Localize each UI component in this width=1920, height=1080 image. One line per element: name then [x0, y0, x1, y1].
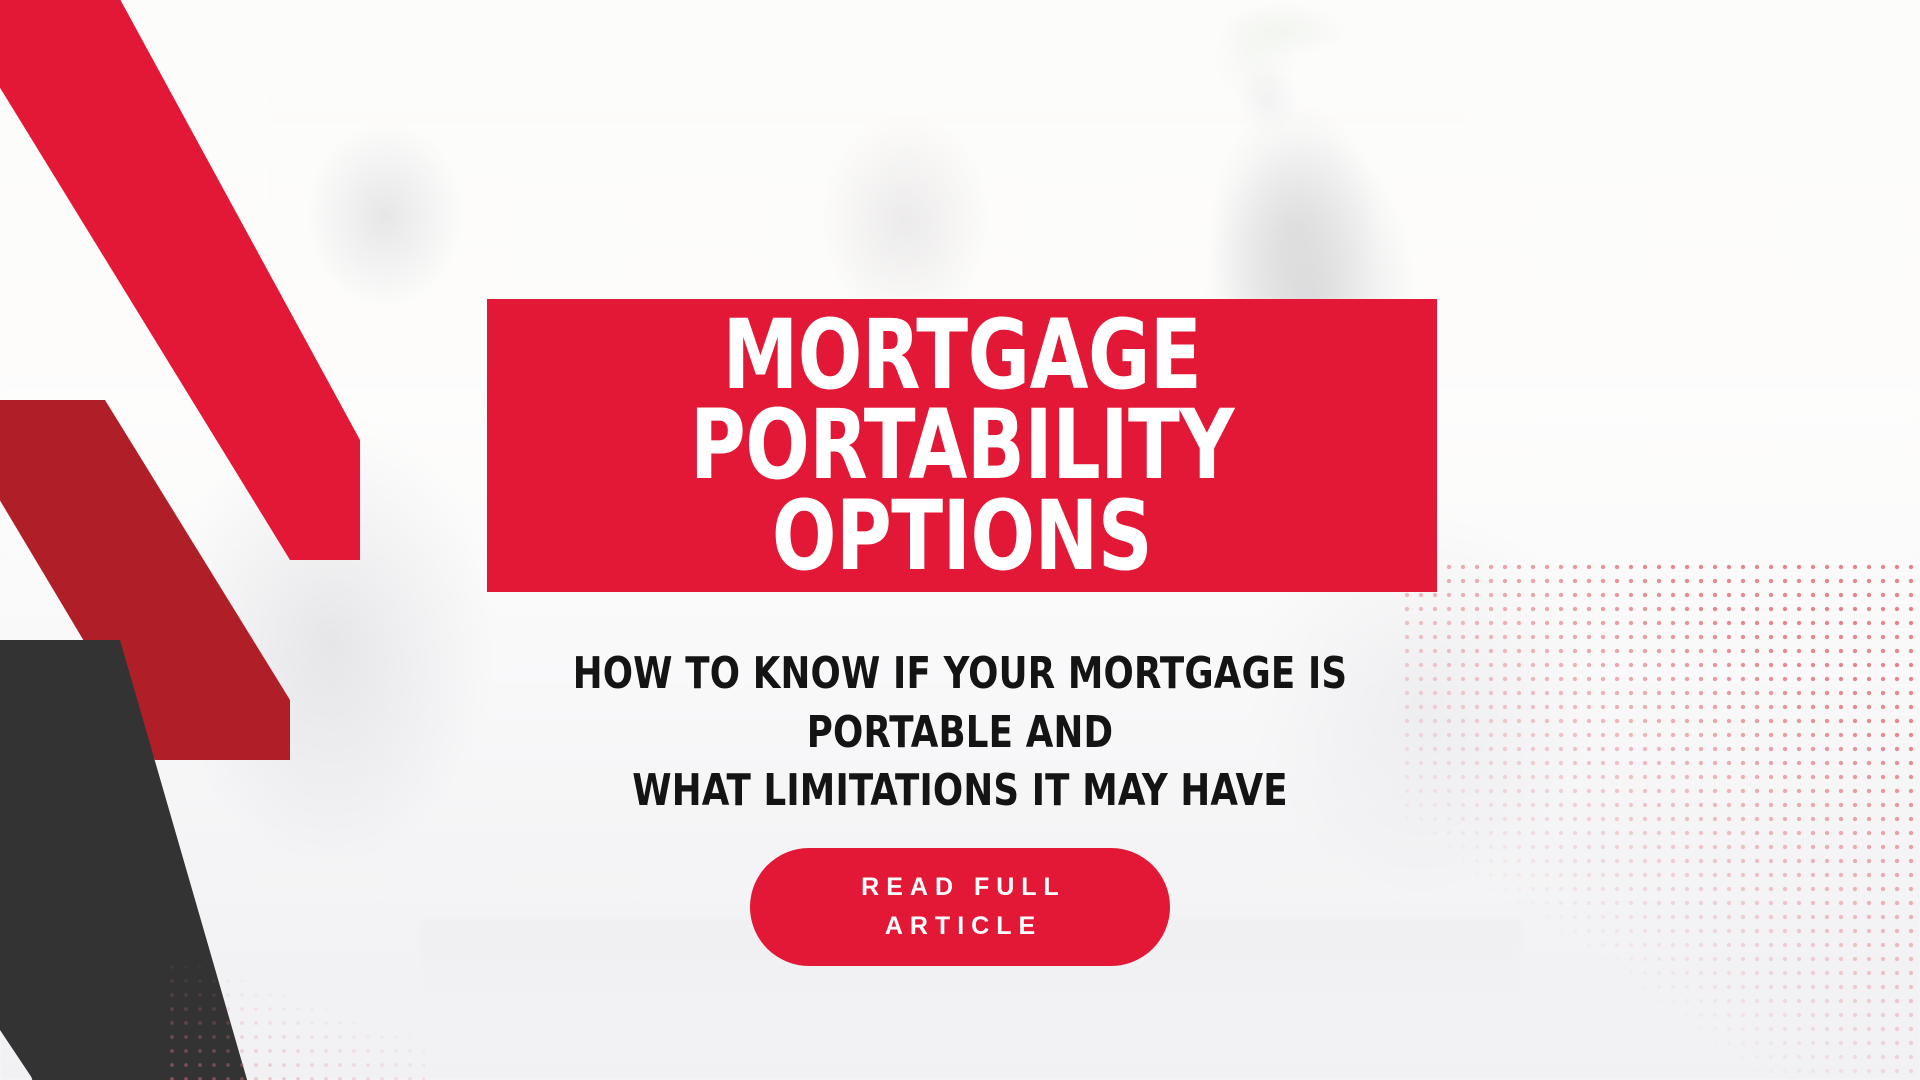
content-layer: MORTGAGE PORTABILITY OPTIONS HOW TO KNOW…	[0, 0, 1920, 1080]
page-title: MORTGAGE PORTABILITY OPTIONS	[544, 310, 1380, 581]
subtitle-text: HOW TO KNOW IF YOUR MORTGAGE IS PORTABLE…	[519, 645, 1401, 821]
title-banner: MORTGAGE PORTABILITY OPTIONS	[487, 299, 1437, 592]
read-full-article-button[interactable]: READ FULL ARTICLE	[750, 848, 1170, 966]
banner-canvas: MORTGAGE PORTABILITY OPTIONS HOW TO KNOW…	[0, 0, 1920, 1080]
